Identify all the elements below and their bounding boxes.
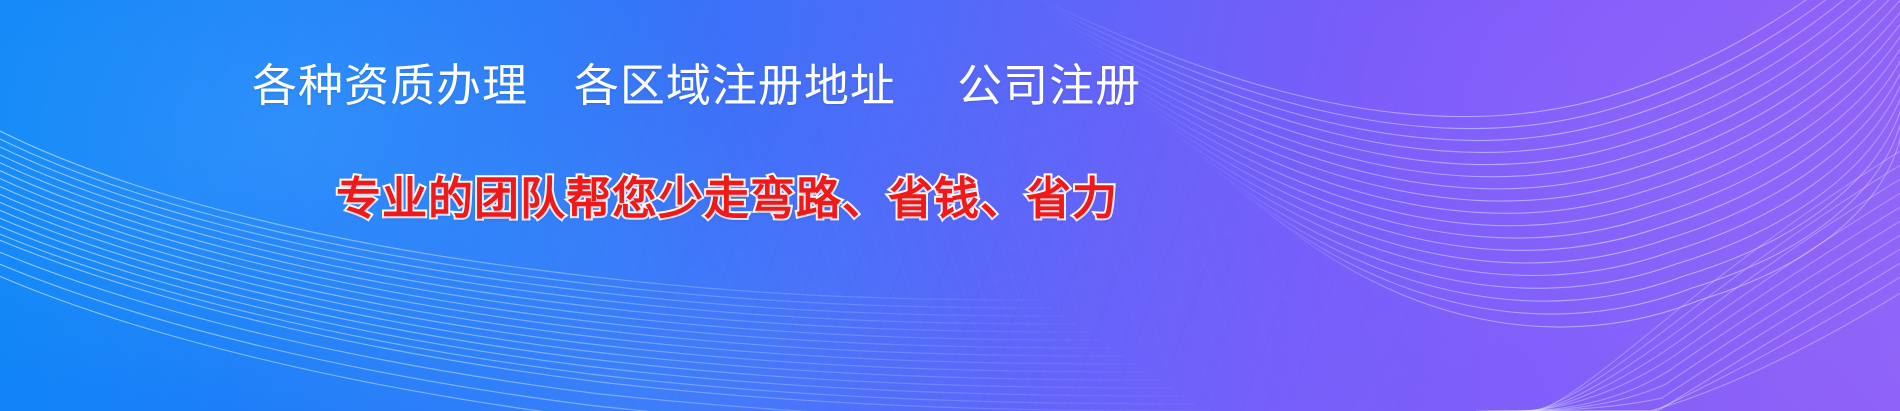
headline-primary: 各种资质办理 各区域注册地址 公司注册 xyxy=(252,60,1141,112)
banner-content: 各种资质办理 各区域注册地址 公司注册 专业的团队帮您少走弯路、省钱、省力 xyxy=(0,0,1900,411)
headline-accent: 专业的团队帮您少走弯路、省钱、省力 xyxy=(336,171,1118,227)
promo-banner: 各种资质办理 各区域注册地址 公司注册 专业的团队帮您少走弯路、省钱、省力 xyxy=(0,0,1900,411)
